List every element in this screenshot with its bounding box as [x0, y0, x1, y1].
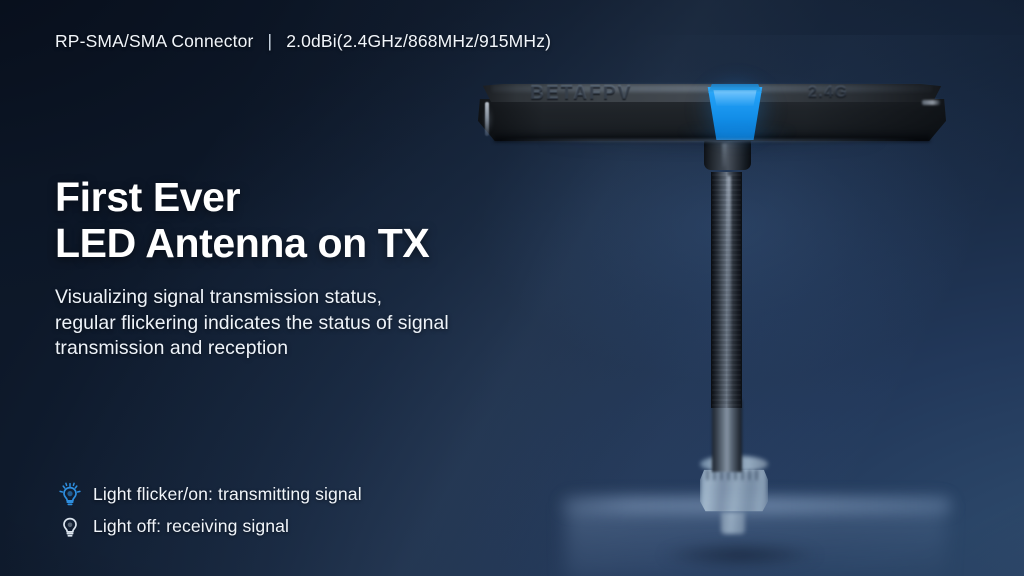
lightbulb-off-icon: [55, 511, 85, 541]
page-title: First Ever LED Antenna on TX: [55, 174, 429, 266]
headline-line-2: LED Antenna on TX: [55, 220, 429, 266]
description-line-3: transmission and reception: [55, 336, 449, 362]
legend-label-transmitting: Light flicker/on: transmitting signal: [93, 484, 362, 505]
description-line-1: Visualizing signal transmission status,: [55, 285, 449, 311]
product-banner: BETAFPV 2.4G RP-SMA/SMA Connector | 2.0d…: [0, 0, 1024, 576]
spec-gain: 2.0dBi(2.4GHz/868MHz/915MHz): [286, 31, 551, 51]
led-status-legend: Light flicker/on: transmitting signal Li…: [55, 478, 362, 542]
spec-connector: RP-SMA/SMA Connector: [55, 31, 253, 51]
description-line-2: regular flickering indicates the status …: [55, 311, 449, 337]
description-text: Visualizing signal transmission status, …: [55, 285, 449, 362]
lightbulb-on-icon: [55, 479, 85, 509]
legend-item-transmitting: Light flicker/on: transmitting signal: [55, 478, 362, 510]
spec-line: RP-SMA/SMA Connector | 2.0dBi(2.4GHz/868…: [55, 31, 551, 52]
legend-label-receiving: Light off: receiving signal: [93, 516, 289, 537]
legend-item-receiving: Light off: receiving signal: [55, 510, 362, 542]
headline-line-1: First Ever: [55, 174, 240, 220]
spec-divider: |: [259, 31, 282, 52]
